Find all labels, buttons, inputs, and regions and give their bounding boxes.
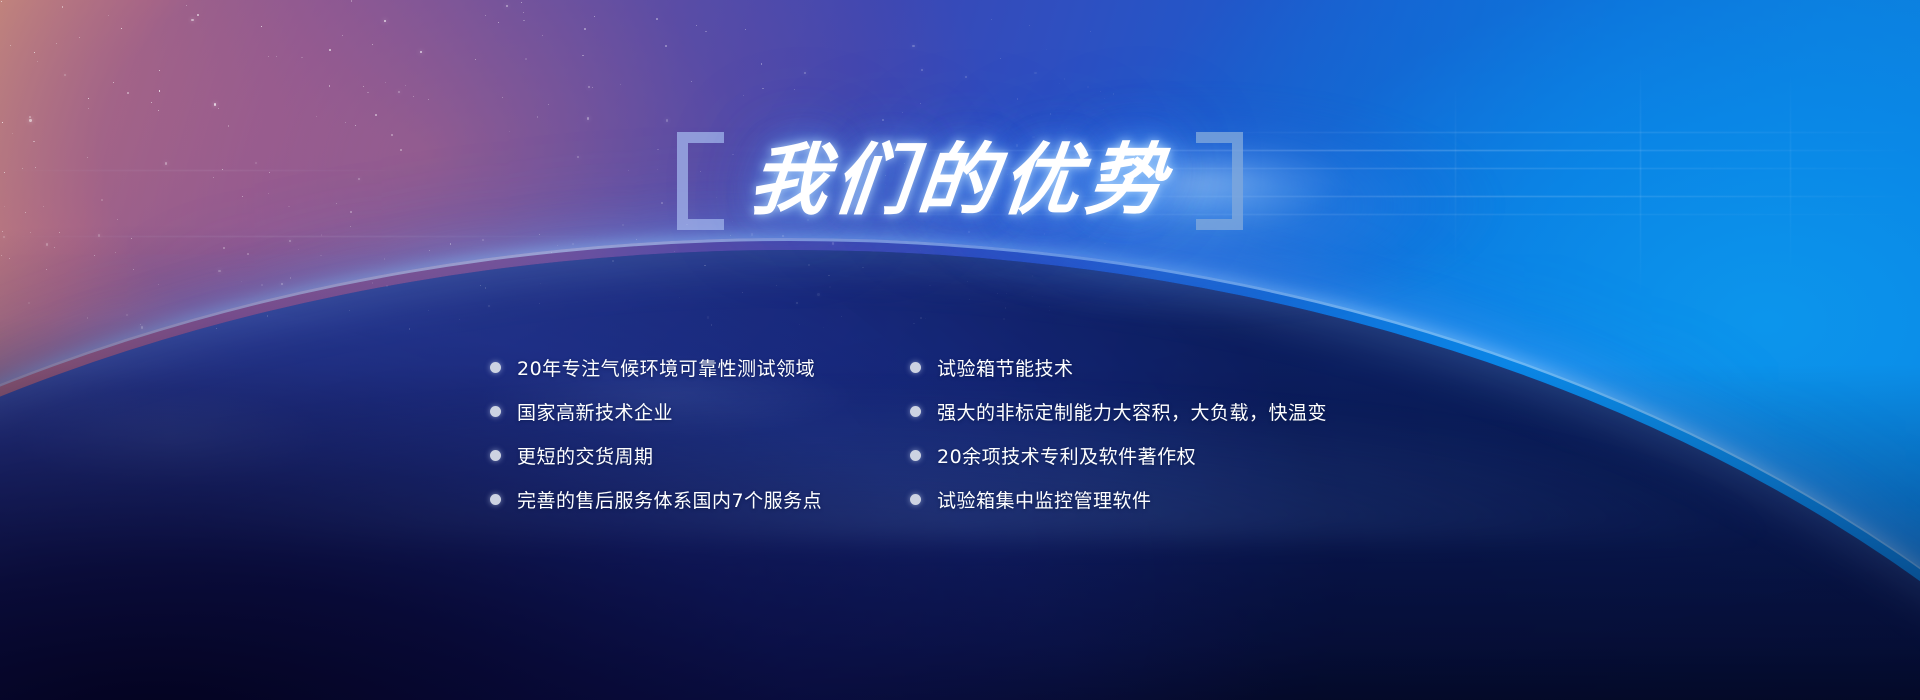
bullet-dot-icon (910, 494, 921, 505)
list-item-label: 完善的售后服务体系国内7个服务点 (517, 486, 822, 513)
bullet-dot-icon (910, 362, 921, 373)
list-item-label: 20余项技术专利及软件著作权 (937, 442, 1196, 469)
advantages-banner: 我们的优势 20年专注气候环境可靠性测试领域 国家高新技术企业 更短的交货周期 … (0, 0, 1920, 700)
bullet-dot-icon (910, 406, 921, 417)
list-item-label: 20年专注气候环境可靠性测试领域 (517, 354, 815, 381)
list-item-label: 试验箱集中监控管理软件 (937, 486, 1152, 513)
list-item: 20余项技术专利及软件著作权 (910, 444, 1430, 466)
bullet-dot-icon (490, 494, 501, 505)
bullet-dot-icon (490, 450, 501, 461)
list-item: 20年专注气候环境可靠性测试领域 (490, 356, 910, 378)
list-item-label: 强大的非标定制能力大容积，大负载，快温变 (937, 398, 1327, 425)
bullet-dot-icon (910, 450, 921, 461)
advantages-lists: 20年专注气候环境可靠性测试领域 国家高新技术企业 更短的交货周期 完善的售后服… (0, 356, 1920, 510)
list-item-label: 国家高新技术企业 (517, 398, 673, 425)
background-dark-vignette (0, 0, 1920, 700)
list-item: 试验箱集中监控管理软件 (910, 488, 1430, 510)
bullet-dot-icon (490, 406, 501, 417)
bullet-dot-icon (490, 362, 501, 373)
advantages-column-right: 试验箱节能技术 强大的非标定制能力大容积，大负载，快温变 20余项技术专利及软件… (910, 356, 1430, 510)
list-item: 强大的非标定制能力大容积，大负载，快温变 (910, 400, 1430, 422)
list-item: 更短的交货周期 (490, 444, 910, 466)
list-item-label: 试验箱节能技术 (937, 354, 1074, 381)
list-item: 试验箱节能技术 (910, 356, 1430, 378)
list-item: 完善的售后服务体系国内7个服务点 (490, 488, 910, 510)
advantages-column-left: 20年专注气候环境可靠性测试领域 国家高新技术企业 更短的交货周期 完善的售后服… (490, 356, 910, 510)
list-item-label: 更短的交货周期 (517, 442, 654, 469)
list-item: 国家高新技术企业 (490, 400, 910, 422)
